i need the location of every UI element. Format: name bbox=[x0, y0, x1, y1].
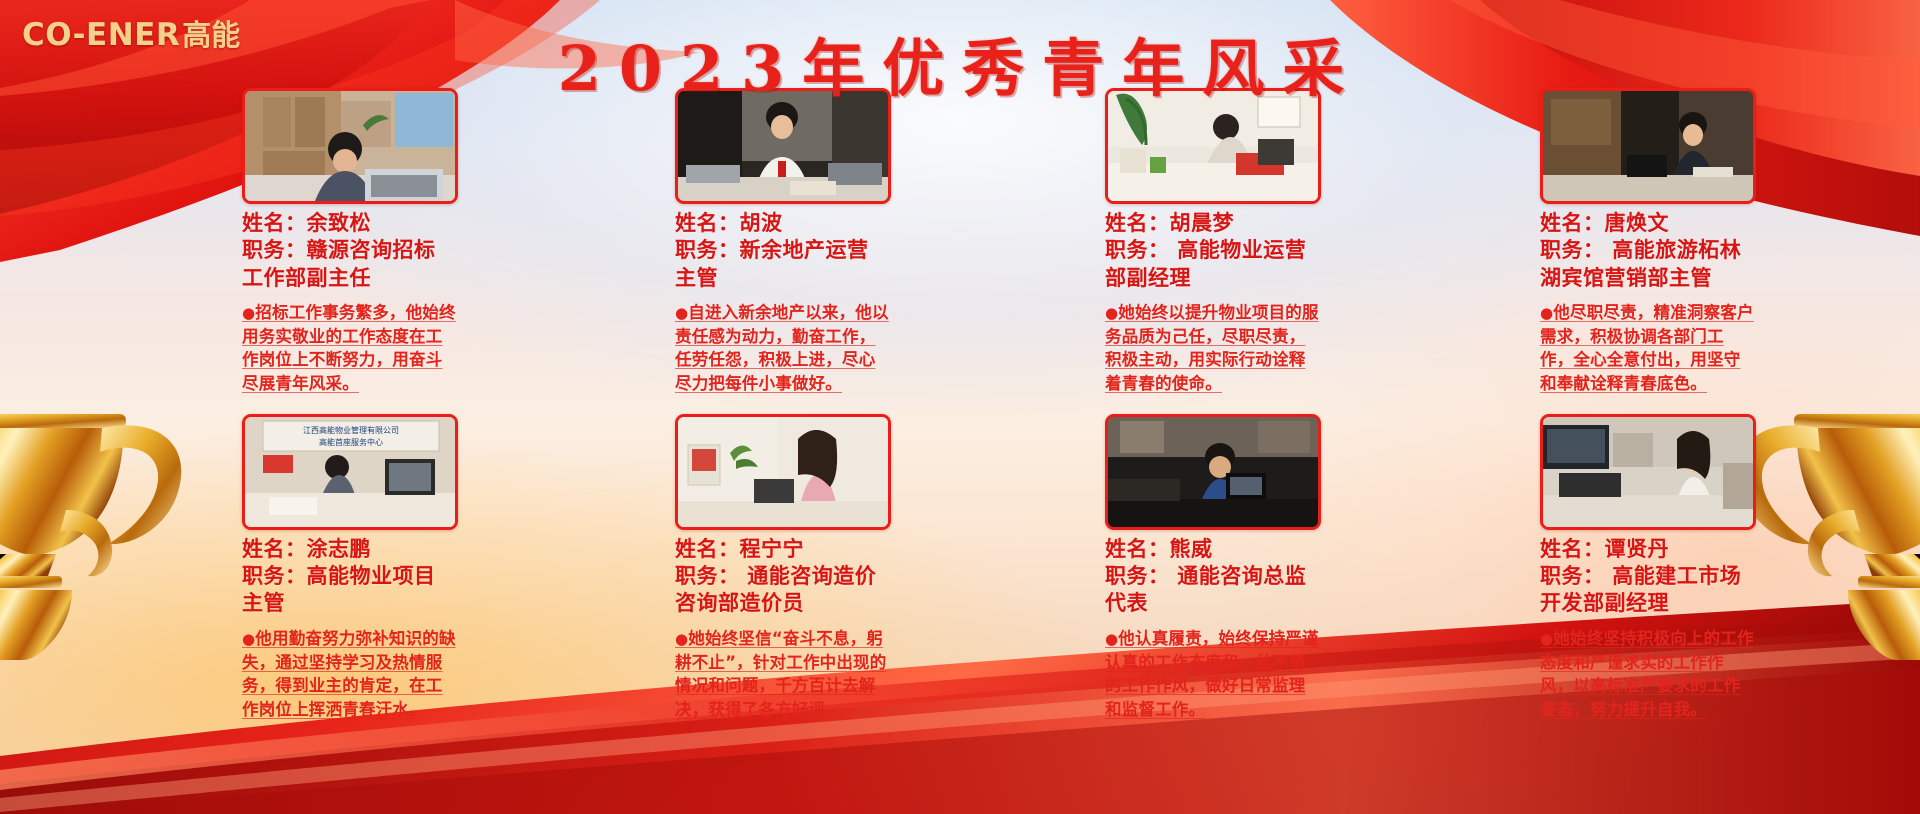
desc-text: 他用勤奋努力弥补知识的缺失，通过坚持学习及热情服务，得到业主的肯定，在工作岗位上… bbox=[242, 629, 456, 719]
profile-meta-4: 姓名：唐焕文 职务： 高能旅游柘林 湖宾馆营销部主管 bbox=[1540, 210, 1915, 292]
profile-meta-8: 姓名：谭贤丹 职务： 高能建工市场 开发部副经理 bbox=[1540, 536, 1915, 618]
person-name: 唐焕文 bbox=[1605, 211, 1670, 235]
name-label: 姓名： bbox=[1540, 537, 1605, 561]
bullet-icon: ● bbox=[1105, 304, 1118, 322]
name-label: 姓名： bbox=[1105, 537, 1170, 561]
profile-card-3: 姓名：胡晨梦 职务： 高能物业运营 部副经理 ●她始终以提升物业项目的服务品质为… bbox=[1105, 88, 1480, 396]
profile-photo-5: 江西高能物业管理有限公司 高能首座服务中心 bbox=[242, 414, 458, 530]
profile-meta-1: 姓名：余致松 职务：赣源咨询招标 工作部副主任 bbox=[242, 210, 617, 292]
profile-grid: 姓名：余致松 职务：赣源咨询招标 工作部副主任 ●招标工作事务繁多，他始终用务实… bbox=[0, 88, 1920, 722]
profile-card-1: 姓名：余致松 职务：赣源咨询招标 工作部副主任 ●招标工作事务繁多，他始终用务实… bbox=[242, 88, 617, 396]
profile-desc-1: ●招标工作事务繁多，他始终用务实敬业的工作态度在工作岗位上不断努力，用奋斗尽展青… bbox=[242, 301, 458, 396]
desc-text: 自进入新余地产以来，他以责任感为动力，勤奋工作，任劳任怨，积极上进，尽心尽力把每… bbox=[675, 303, 889, 393]
company-logo: CO-ENER高能 bbox=[22, 12, 240, 54]
person-name: 余致松 bbox=[307, 211, 372, 235]
name-label: 姓名： bbox=[242, 537, 307, 561]
profile-row-2: 江西高能物业管理有限公司 高能首座服务中心 姓名：涂志鹏 职务：高能物业项目 主… bbox=[0, 414, 1920, 722]
position-label: 职务： bbox=[242, 238, 307, 262]
name-label: 姓名： bbox=[242, 211, 307, 235]
profile-desc-6: ●她始终坚信“奋斗不息，躬耕不止”，针对工作中出现的情况和问题，千方百计去解决，… bbox=[675, 627, 891, 722]
name-label: 姓名： bbox=[1540, 211, 1605, 235]
profile-photo-6 bbox=[675, 414, 891, 530]
desc-text: 招标工作事务繁多，他始终用务实敬业的工作态度在工作岗位上不断努力，用奋斗尽展青年… bbox=[242, 303, 456, 393]
svg-text:高能首座服务中心: 高能首座服务中心 bbox=[319, 437, 383, 447]
bullet-icon: ● bbox=[242, 304, 255, 322]
bullet-icon: ● bbox=[1105, 630, 1118, 648]
position-label: 职务： bbox=[1105, 238, 1170, 262]
profile-card-2: 姓名：胡波 职务：新余地产运营 主管 ●自进入新余地产以来，他以责任感为动力，勤… bbox=[675, 88, 1050, 396]
profile-desc-7: ●他认真履责，始终保持严谨认真的工作态度和一丝不苟的工作作风，做好日常监理和监督… bbox=[1105, 627, 1321, 722]
name-label: 姓名： bbox=[675, 537, 740, 561]
position-label: 职务： bbox=[242, 564, 307, 588]
profile-card-4: 姓名：唐焕文 职务： 高能旅游柘林 湖宾馆营销部主管 ●他尽职尽责，精准洞察客户… bbox=[1540, 88, 1915, 396]
logo-latin: CO-ENER bbox=[22, 17, 180, 53]
desc-text: 她始终坚信“奋斗不息，躬耕不止”，针对工作中出现的情况和问题，千方百计去解决，获… bbox=[675, 629, 886, 719]
bullet-icon: ● bbox=[1540, 630, 1553, 648]
page-title: 2023年优秀青年风采 bbox=[0, 18, 1920, 108]
profile-card-5: 江西高能物业管理有限公司 高能首座服务中心 姓名：涂志鹏 职务：高能物业项目 主… bbox=[242, 414, 617, 722]
desc-text: 他认真履责，始终保持严谨认真的工作态度和一丝不苟的工作作风，做好日常监理和监督工… bbox=[1105, 629, 1319, 719]
svg-text:江西高能物业管理有限公司: 江西高能物业管理有限公司 bbox=[303, 425, 399, 435]
profile-card-8: 姓名：谭贤丹 职务： 高能建工市场 开发部副经理 ●她始终坚持积极向上的工作态度… bbox=[1540, 414, 1915, 722]
position-label: 职务： bbox=[1105, 564, 1170, 588]
profile-card-6: 姓名：程宁宁 职务： 通能咨询造价 咨询部造价员 ●她始终坚信“奋斗不息，躬耕不… bbox=[675, 414, 1050, 722]
profile-meta-5: 姓名：涂志鹏 职务：高能物业项目 主管 bbox=[242, 536, 617, 618]
logo-chinese: 高能 bbox=[182, 18, 240, 52]
name-label: 姓名： bbox=[1105, 211, 1170, 235]
profile-photo-7 bbox=[1105, 414, 1321, 530]
profile-desc-4: ●他尽职尽责，精准洞察客户需求，积极协调各部门工作，全心全意付出，用坚守和奉献诠… bbox=[1540, 301, 1756, 396]
person-name: 熊威 bbox=[1170, 537, 1213, 561]
person-name: 胡晨梦 bbox=[1170, 211, 1235, 235]
position-label: 职务： bbox=[1540, 564, 1605, 588]
desc-text: 她始终坚持积极向上的工作态度和严谨求实的工作作风，以高标准严要求的工作姿态，努力… bbox=[1540, 629, 1754, 719]
desc-text: 他尽职尽责，精准洞察客户需求，积极协调各部门工作，全心全意付出，用坚守和奉献诠释… bbox=[1540, 303, 1754, 393]
profile-row-1: 姓名：余致松 职务：赣源咨询招标 工作部副主任 ●招标工作事务繁多，他始终用务实… bbox=[0, 88, 1920, 396]
bullet-icon: ● bbox=[675, 304, 688, 322]
profile-photo-8 bbox=[1540, 414, 1756, 530]
person-name: 程宁宁 bbox=[740, 537, 805, 561]
poster-canvas: CO-ENER高能 2023年优秀青年风采 bbox=[0, 0, 1920, 814]
person-name: 涂志鹏 bbox=[307, 537, 372, 561]
bullet-icon: ● bbox=[242, 630, 255, 648]
profile-desc-3: ●她始终以提升物业项目的服务品质为己任，尽职尽责，积极主动，用实际行动诠释着青春… bbox=[1105, 301, 1321, 396]
desc-text: 她始终以提升物业项目的服务品质为己任，尽职尽责，积极主动，用实际行动诠释着青春的… bbox=[1105, 303, 1319, 393]
profile-meta-6: 姓名：程宁宁 职务： 通能咨询造价 咨询部造价员 bbox=[675, 536, 1050, 618]
position-label: 职务： bbox=[1540, 238, 1605, 262]
person-name: 胡波 bbox=[740, 211, 783, 235]
profile-meta-2: 姓名：胡波 职务：新余地产运营 主管 bbox=[675, 210, 1050, 292]
position-label: 职务： bbox=[675, 564, 740, 588]
profile-desc-5: ●他用勤奋努力弥补知识的缺失，通过坚持学习及热情服务，得到业主的肯定，在工作岗位… bbox=[242, 627, 458, 722]
person-name: 谭贤丹 bbox=[1605, 537, 1670, 561]
bullet-icon: ● bbox=[1540, 304, 1553, 322]
profile-meta-7: 姓名：熊威 职务： 通能咨询总监 代表 bbox=[1105, 536, 1480, 618]
bullet-icon: ● bbox=[675, 630, 688, 648]
profile-desc-8: ●她始终坚持积极向上的工作态度和严谨求实的工作作风，以高标准严要求的工作姿态，努… bbox=[1540, 627, 1756, 722]
profile-desc-2: ●自进入新余地产以来，他以责任感为动力，勤奋工作，任劳任怨，积极上进，尽心尽力把… bbox=[675, 301, 891, 396]
name-label: 姓名： bbox=[675, 211, 740, 235]
profile-meta-3: 姓名：胡晨梦 职务： 高能物业运营 部副经理 bbox=[1105, 210, 1480, 292]
position-label: 职务： bbox=[675, 238, 740, 262]
profile-card-7: 姓名：熊威 职务： 通能咨询总监 代表 ●他认真履责，始终保持严谨认真的工作态度… bbox=[1105, 414, 1480, 722]
